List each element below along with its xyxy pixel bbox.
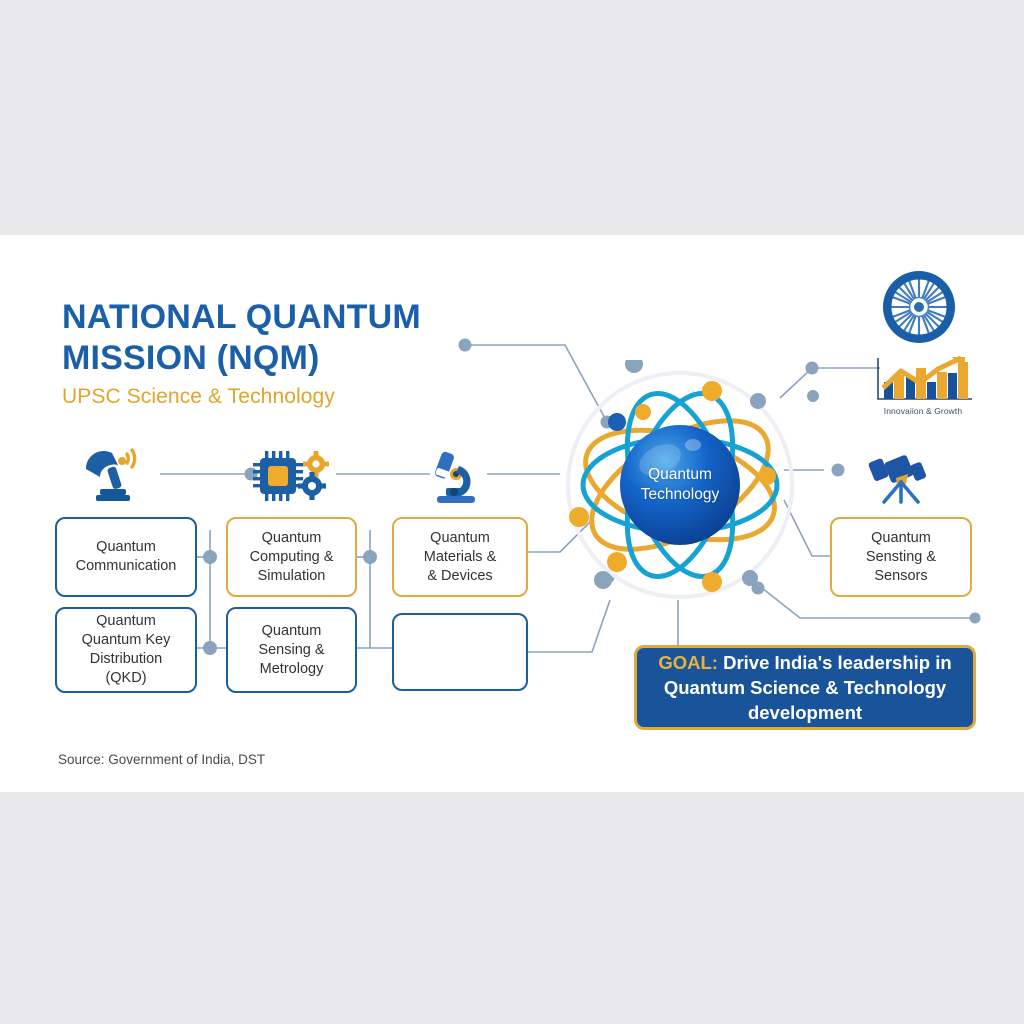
box-quantum-sensing-sensors-label: QuantumSensting &Sensors — [866, 529, 936, 586]
page-subtitle: UPSC Science & Technology — [62, 385, 532, 409]
infographic-canvas: NATIONAL QUANTUM MISSION (NQM) UPSC Scie… — [0, 0, 1024, 1024]
telescope-icon — [866, 450, 938, 506]
growth-chart-icon — [868, 355, 978, 407]
quantum-technology-atom: Quantum Technology — [560, 360, 800, 610]
box-quantum-communication-label: QuantumCommunication — [76, 538, 177, 576]
box-quantum-sensing-metrology[interactable]: QuantumSensing &Metrology — [226, 607, 357, 693]
box-quantum-sensing-metrology-label: QuantumSensing &Metrology — [258, 622, 324, 679]
box-quantum-key-distribution-label: QuantumQuantum KeyDistribution(QKD) — [82, 612, 171, 688]
box-quantum-key-distribution[interactable]: QuantumQuantum KeyDistribution(QKD) — [55, 607, 197, 693]
box-quantum-imaging[interactable] — [392, 613, 528, 691]
microscope-icon — [425, 448, 487, 506]
box-quantum-computing-simulation-label: QuantumComputing &Simulation — [250, 529, 334, 586]
box-quantum-materials-devices-label: QuantumMaterials && Devices — [424, 529, 497, 586]
satellite-dish-icon — [78, 443, 160, 505]
box-quantum-communication[interactable]: QuantumCommunication — [55, 517, 197, 597]
ashoka-chakra-icon — [880, 268, 958, 346]
connector-lines — [0, 0, 1024, 1024]
box-quantum-computing-simulation[interactable]: QuantumComputing &Simulation — [226, 517, 357, 597]
innovation-growth-caption: Innovaiion & Growth — [868, 406, 978, 416]
goal-keyword: GOAL: — [658, 652, 718, 673]
goal-banner: GOAL: Drive India's leadership in Quantu… — [634, 645, 976, 730]
page-title-line-2: MISSION (NQM) — [62, 338, 532, 379]
page-title-line-1: NATIONAL QUANTUM — [62, 297, 532, 338]
microchip-gears-icon — [248, 448, 336, 504]
goal-text: GOAL: Drive India's leadership in Quantu… — [649, 650, 961, 725]
title-block: NATIONAL QUANTUM MISSION (NQM) UPSC Scie… — [62, 297, 532, 409]
source-note: Source: Government of India, DST — [58, 752, 265, 767]
box-quantum-sensing-sensors[interactable]: QuantumSensting &Sensors — [830, 517, 972, 597]
box-quantum-materials-devices[interactable]: QuantumMaterials && Devices — [392, 517, 528, 597]
